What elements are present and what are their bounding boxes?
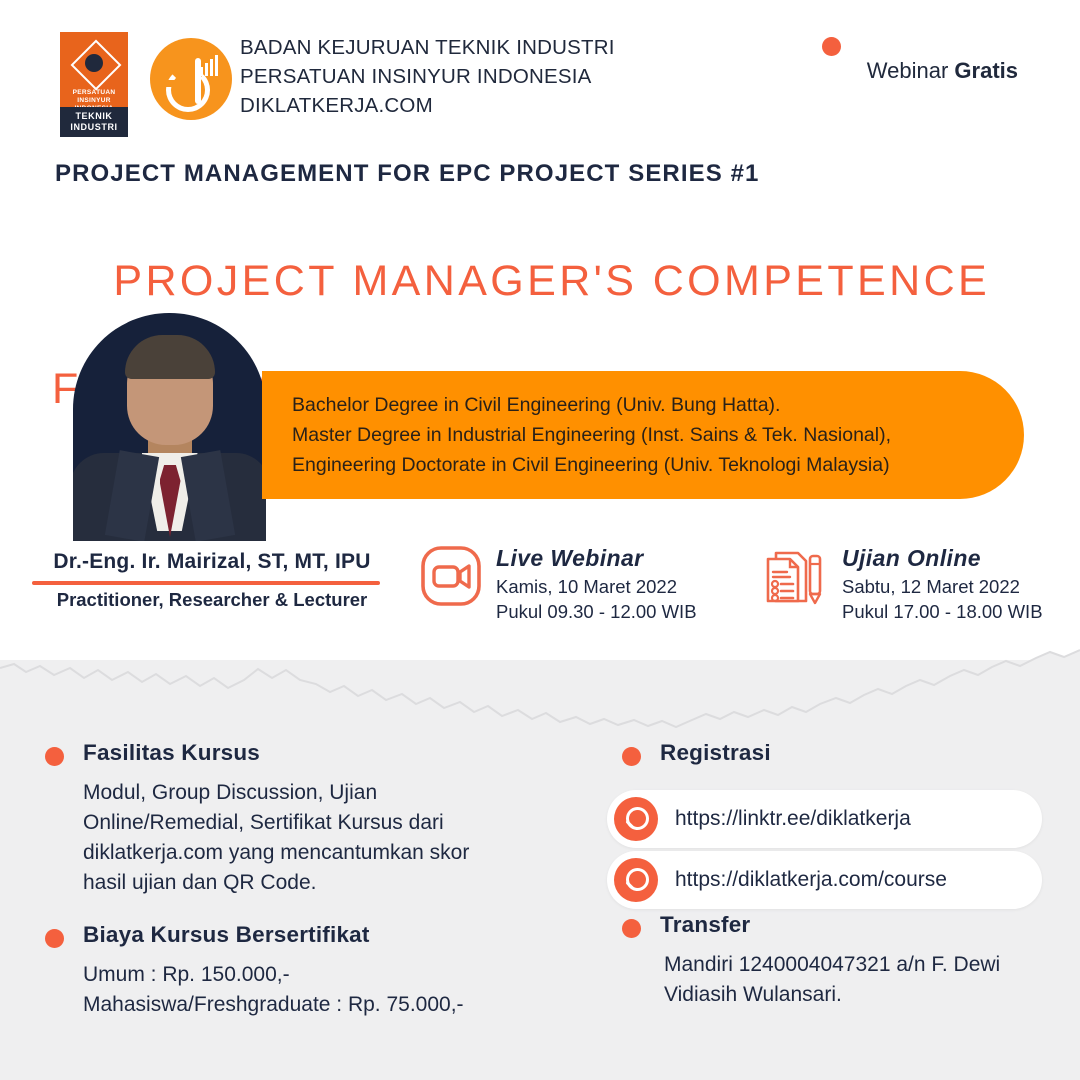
registration-link-2-url: https://diklatkerja.com/course	[675, 868, 947, 892]
badge-emphasis: Gratis	[954, 58, 1018, 83]
header: PERSATUAN INSINYUR INDONESIA TEKNIK INDU…	[0, 0, 1080, 140]
exam-checklist-icon	[760, 545, 828, 607]
registration-link-1-url: https://linktr.ee/diklatkerja	[675, 807, 911, 831]
bullet-icon	[622, 747, 641, 766]
pii-bar-line1: TEKNIK	[75, 111, 112, 122]
bullet-icon	[45, 929, 64, 948]
schedule-section: Live Webinar Kamis, 10 Maret 2022 Pukul …	[420, 545, 1060, 640]
speaker-name: Dr.-Eng. Ir. Mairizal, ST, MT, IPU	[32, 550, 392, 574]
diklatkerja-logo-icon	[150, 38, 232, 120]
pii-diamond-icon	[72, 41, 116, 85]
org-line-1: BADAN KEJURUAN TEKNIK INDUSTRI	[240, 33, 615, 62]
organization-name: BADAN KEJURUAN TEKNIK INDUSTRI PERSATUAN…	[240, 33, 615, 120]
series-kicker: PROJECT MANAGEMENT FOR EPC PROJECT SERIE…	[55, 160, 760, 188]
registration-section: Registrasi	[622, 740, 1052, 766]
speaker-photo	[73, 313, 266, 541]
schedule-heading: Ujian Online	[842, 545, 1043, 572]
schedule-date: Sabtu, 12 Maret 2022	[842, 574, 1043, 599]
title-line-1: PROJECT MANAGER'S COMPETENCE	[113, 257, 990, 305]
pii-logo: PERSATUAN INSINYUR INDONESIA TEKNIK INDU…	[60, 32, 128, 137]
transfer-line-1: Mandiri 1240004047321 a/n F. Dewi	[664, 950, 1052, 980]
registration-title: Registrasi	[660, 740, 1052, 766]
org-line-2: PERSATUAN INSINYUR INDONESIA	[240, 62, 615, 91]
schedule-time: Pukul 09.30 - 12.00 WIB	[496, 599, 697, 624]
speaker-bio-banner: Bachelor Degree in Civil Engineering (Un…	[262, 371, 1024, 499]
facilities-body: Modul, Group Discussion, Ujian Online/Re…	[83, 778, 585, 898]
search-icon	[614, 797, 658, 841]
transfer-section: Transfer Mandiri 1240004047321 a/n F. De…	[622, 912, 1052, 1010]
bio-line-3: Engineering Doctorate in Civil Engineeri…	[292, 450, 891, 480]
free-webinar-badge: Webinar Gratis	[867, 58, 1018, 84]
bullet-icon	[45, 747, 64, 766]
facilities-line-3: diklatkerja.com yang mencantumkan skor	[83, 838, 585, 868]
pii-logo-bar: TEKNIK INDUSTRI	[60, 107, 128, 137]
pii-logo-line2: INSINYUR	[73, 97, 116, 105]
facilities-section: Fasilitas Kursus Modul, Group Discussion…	[45, 740, 585, 898]
fees-line-2: Mahasiswa/Freshgraduate : Rp. 75.000,-	[83, 990, 585, 1020]
registration-link-1[interactable]: https://linktr.ee/diklatkerja	[607, 790, 1042, 848]
pii-logo-line1: PERSATUAN	[73, 89, 116, 97]
org-line-3: DIKLATKERJA.COM	[240, 91, 615, 120]
fees-title: Biaya Kursus Bersertifikat	[83, 922, 585, 948]
transfer-body: Mandiri 1240004047321 a/n F. Dewi Vidias…	[664, 950, 1052, 1010]
speaker-divider	[32, 581, 380, 585]
facilities-line-2: Online/Remedial, Sertifikat Kursus dari	[83, 808, 585, 838]
fees-section: Biaya Kursus Bersertifikat Umum : Rp. 15…	[45, 922, 585, 1020]
badge-dot-icon	[822, 37, 841, 56]
schedule-date: Kamis, 10 Maret 2022	[496, 574, 697, 599]
schedule-time: Pukul 17.00 - 18.00 WIB	[842, 599, 1043, 624]
fees-body: Umum : Rp. 150.000,- Mahasiswa/Freshgrad…	[83, 960, 585, 1020]
bio-line-1: Bachelor Degree in Civil Engineering (Un…	[292, 390, 891, 420]
transfer-line-2: Vidiasih Wulansari.	[664, 980, 1052, 1010]
badge-label: Webinar	[867, 58, 955, 83]
pii-bar-line2: INDUSTRI	[70, 122, 117, 133]
facilities-title: Fasilitas Kursus	[83, 740, 585, 766]
fees-line-1: Umum : Rp. 150.000,-	[83, 960, 585, 990]
speaker-role: Practitioner, Researcher & Lecturer	[32, 589, 392, 611]
schedule-item-online-exam: Ujian Online Sabtu, 12 Maret 2022 Pukul …	[760, 545, 1043, 624]
transfer-title: Transfer	[660, 912, 1052, 938]
facilities-line-1: Modul, Group Discussion, Ujian	[83, 778, 585, 808]
facilities-line-4: hasil ujian dan QR Code.	[83, 868, 585, 898]
search-icon	[614, 858, 658, 902]
schedule-heading: Live Webinar	[496, 545, 697, 572]
bullet-icon	[622, 919, 641, 938]
bio-line-2: Master Degree in Industrial Engineering …	[292, 420, 891, 450]
registration-link-2[interactable]: https://diklatkerja.com/course	[607, 851, 1042, 909]
schedule-item-live-webinar: Live Webinar Kamis, 10 Maret 2022 Pukul …	[420, 545, 697, 624]
webinar-poster: PERSATUAN INSINYUR INDONESIA TEKNIK INDU…	[0, 0, 1080, 1080]
video-camera-icon	[420, 545, 482, 607]
